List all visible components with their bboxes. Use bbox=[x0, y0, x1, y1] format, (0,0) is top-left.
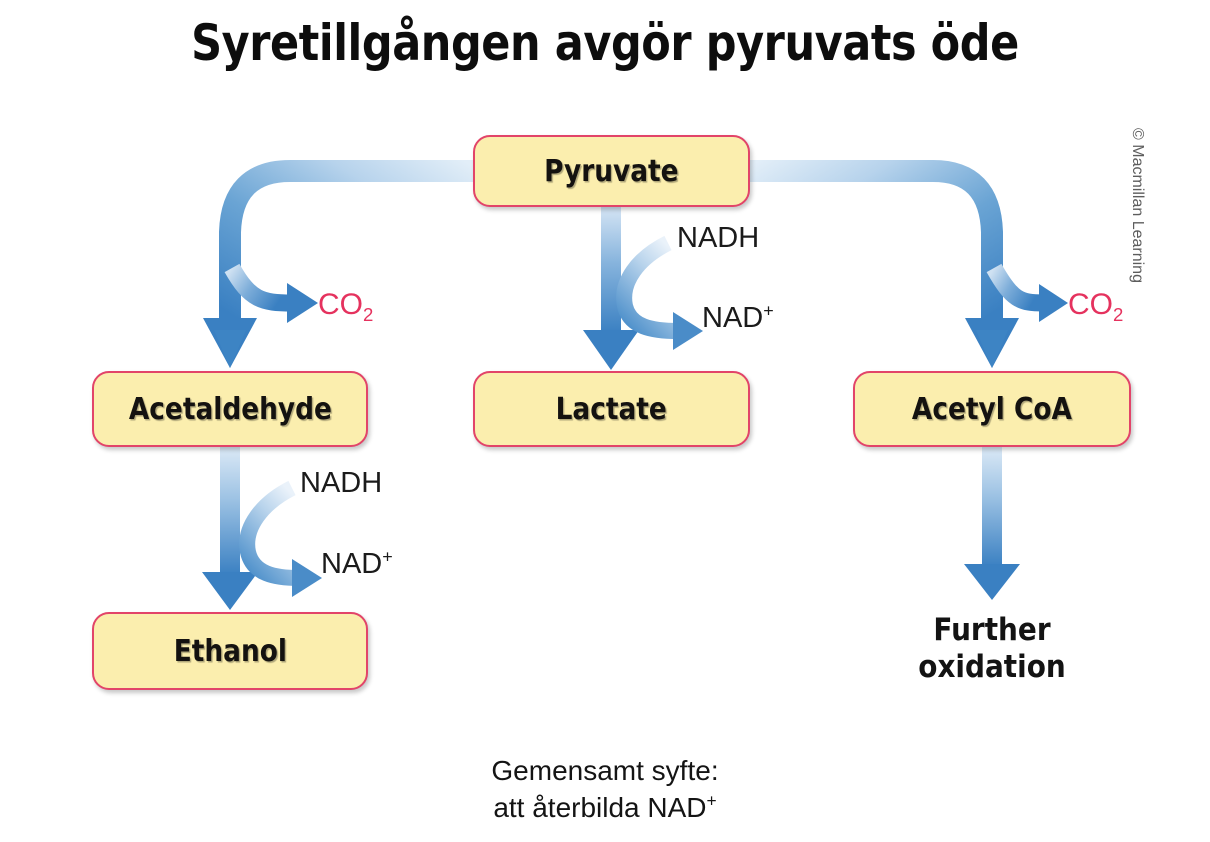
node-pyruvate[interactable]: Pyruvate bbox=[473, 135, 750, 207]
arrow-acetylcoa-to-further-oxidation bbox=[964, 447, 1020, 600]
node-ethanol[interactable]: Ethanol bbox=[92, 612, 368, 690]
label-further-oxidation-line1: Further bbox=[884, 612, 1100, 649]
label-co2-left-text: CO bbox=[318, 288, 363, 321]
label-nadh-left: NADH bbox=[300, 467, 382, 500]
label-co2-right: CO2 bbox=[1068, 288, 1123, 322]
label-co2-left-subscript: 2 bbox=[363, 304, 373, 325]
arrow-nadh-to-nad-left bbox=[247, 488, 322, 597]
arrow-pyruvate-to-acetylcoa bbox=[743, 171, 1019, 368]
node-acetyl-coa[interactable]: Acetyl CoA bbox=[853, 371, 1131, 447]
label-nad-plus-left: NAD+ bbox=[321, 548, 393, 581]
label-nad-plus-center: NAD+ bbox=[702, 302, 774, 335]
label-co2-right-text: CO bbox=[1068, 288, 1113, 321]
node-acetaldehyde[interactable]: Acetaldehyde bbox=[92, 371, 368, 447]
label-nad-plus-center-text: NAD bbox=[702, 302, 763, 334]
label-further-oxidation-line2: oxidation bbox=[884, 649, 1100, 686]
arrow-co2-left bbox=[232, 268, 318, 323]
node-acetyl-coa-label: Acetyl CoA bbox=[912, 392, 1072, 427]
bottom-caption-line2-superscript: + bbox=[707, 791, 717, 811]
diagram-canvas: Syretillgången avgör pyruvats öde bbox=[0, 0, 1210, 842]
label-nad-plus-left-superscript: + bbox=[382, 546, 393, 566]
arrow-pyruvate-to-acetaldehyde bbox=[203, 171, 480, 368]
label-nad-plus-center-superscript: + bbox=[763, 300, 774, 320]
bottom-caption-line1: Gemensamt syfte: bbox=[0, 752, 1210, 789]
label-nadh-center: NADH bbox=[677, 222, 759, 255]
bottom-caption: Gemensamt syfte: att återbilda NAD+ bbox=[0, 752, 1210, 826]
label-further-oxidation: Further oxidation bbox=[884, 612, 1100, 685]
label-co2-right-subscript: 2 bbox=[1113, 304, 1123, 325]
bottom-caption-line2: att återbilda NAD+ bbox=[0, 789, 1210, 826]
label-co2-left: CO2 bbox=[318, 288, 373, 322]
node-lactate[interactable]: Lactate bbox=[473, 371, 750, 447]
node-lactate-label: Lactate bbox=[556, 392, 667, 427]
arrow-co2-right bbox=[994, 268, 1068, 322]
node-ethanol-label: Ethanol bbox=[173, 634, 286, 669]
label-nad-plus-left-text: NAD bbox=[321, 548, 382, 580]
copyright-notice: © Macmillan Learning bbox=[1128, 128, 1146, 283]
node-pyruvate-label: Pyruvate bbox=[544, 154, 678, 189]
bottom-caption-line2-text: att återbilda NAD bbox=[493, 792, 706, 823]
node-acetaldehyde-label: Acetaldehyde bbox=[128, 392, 331, 427]
